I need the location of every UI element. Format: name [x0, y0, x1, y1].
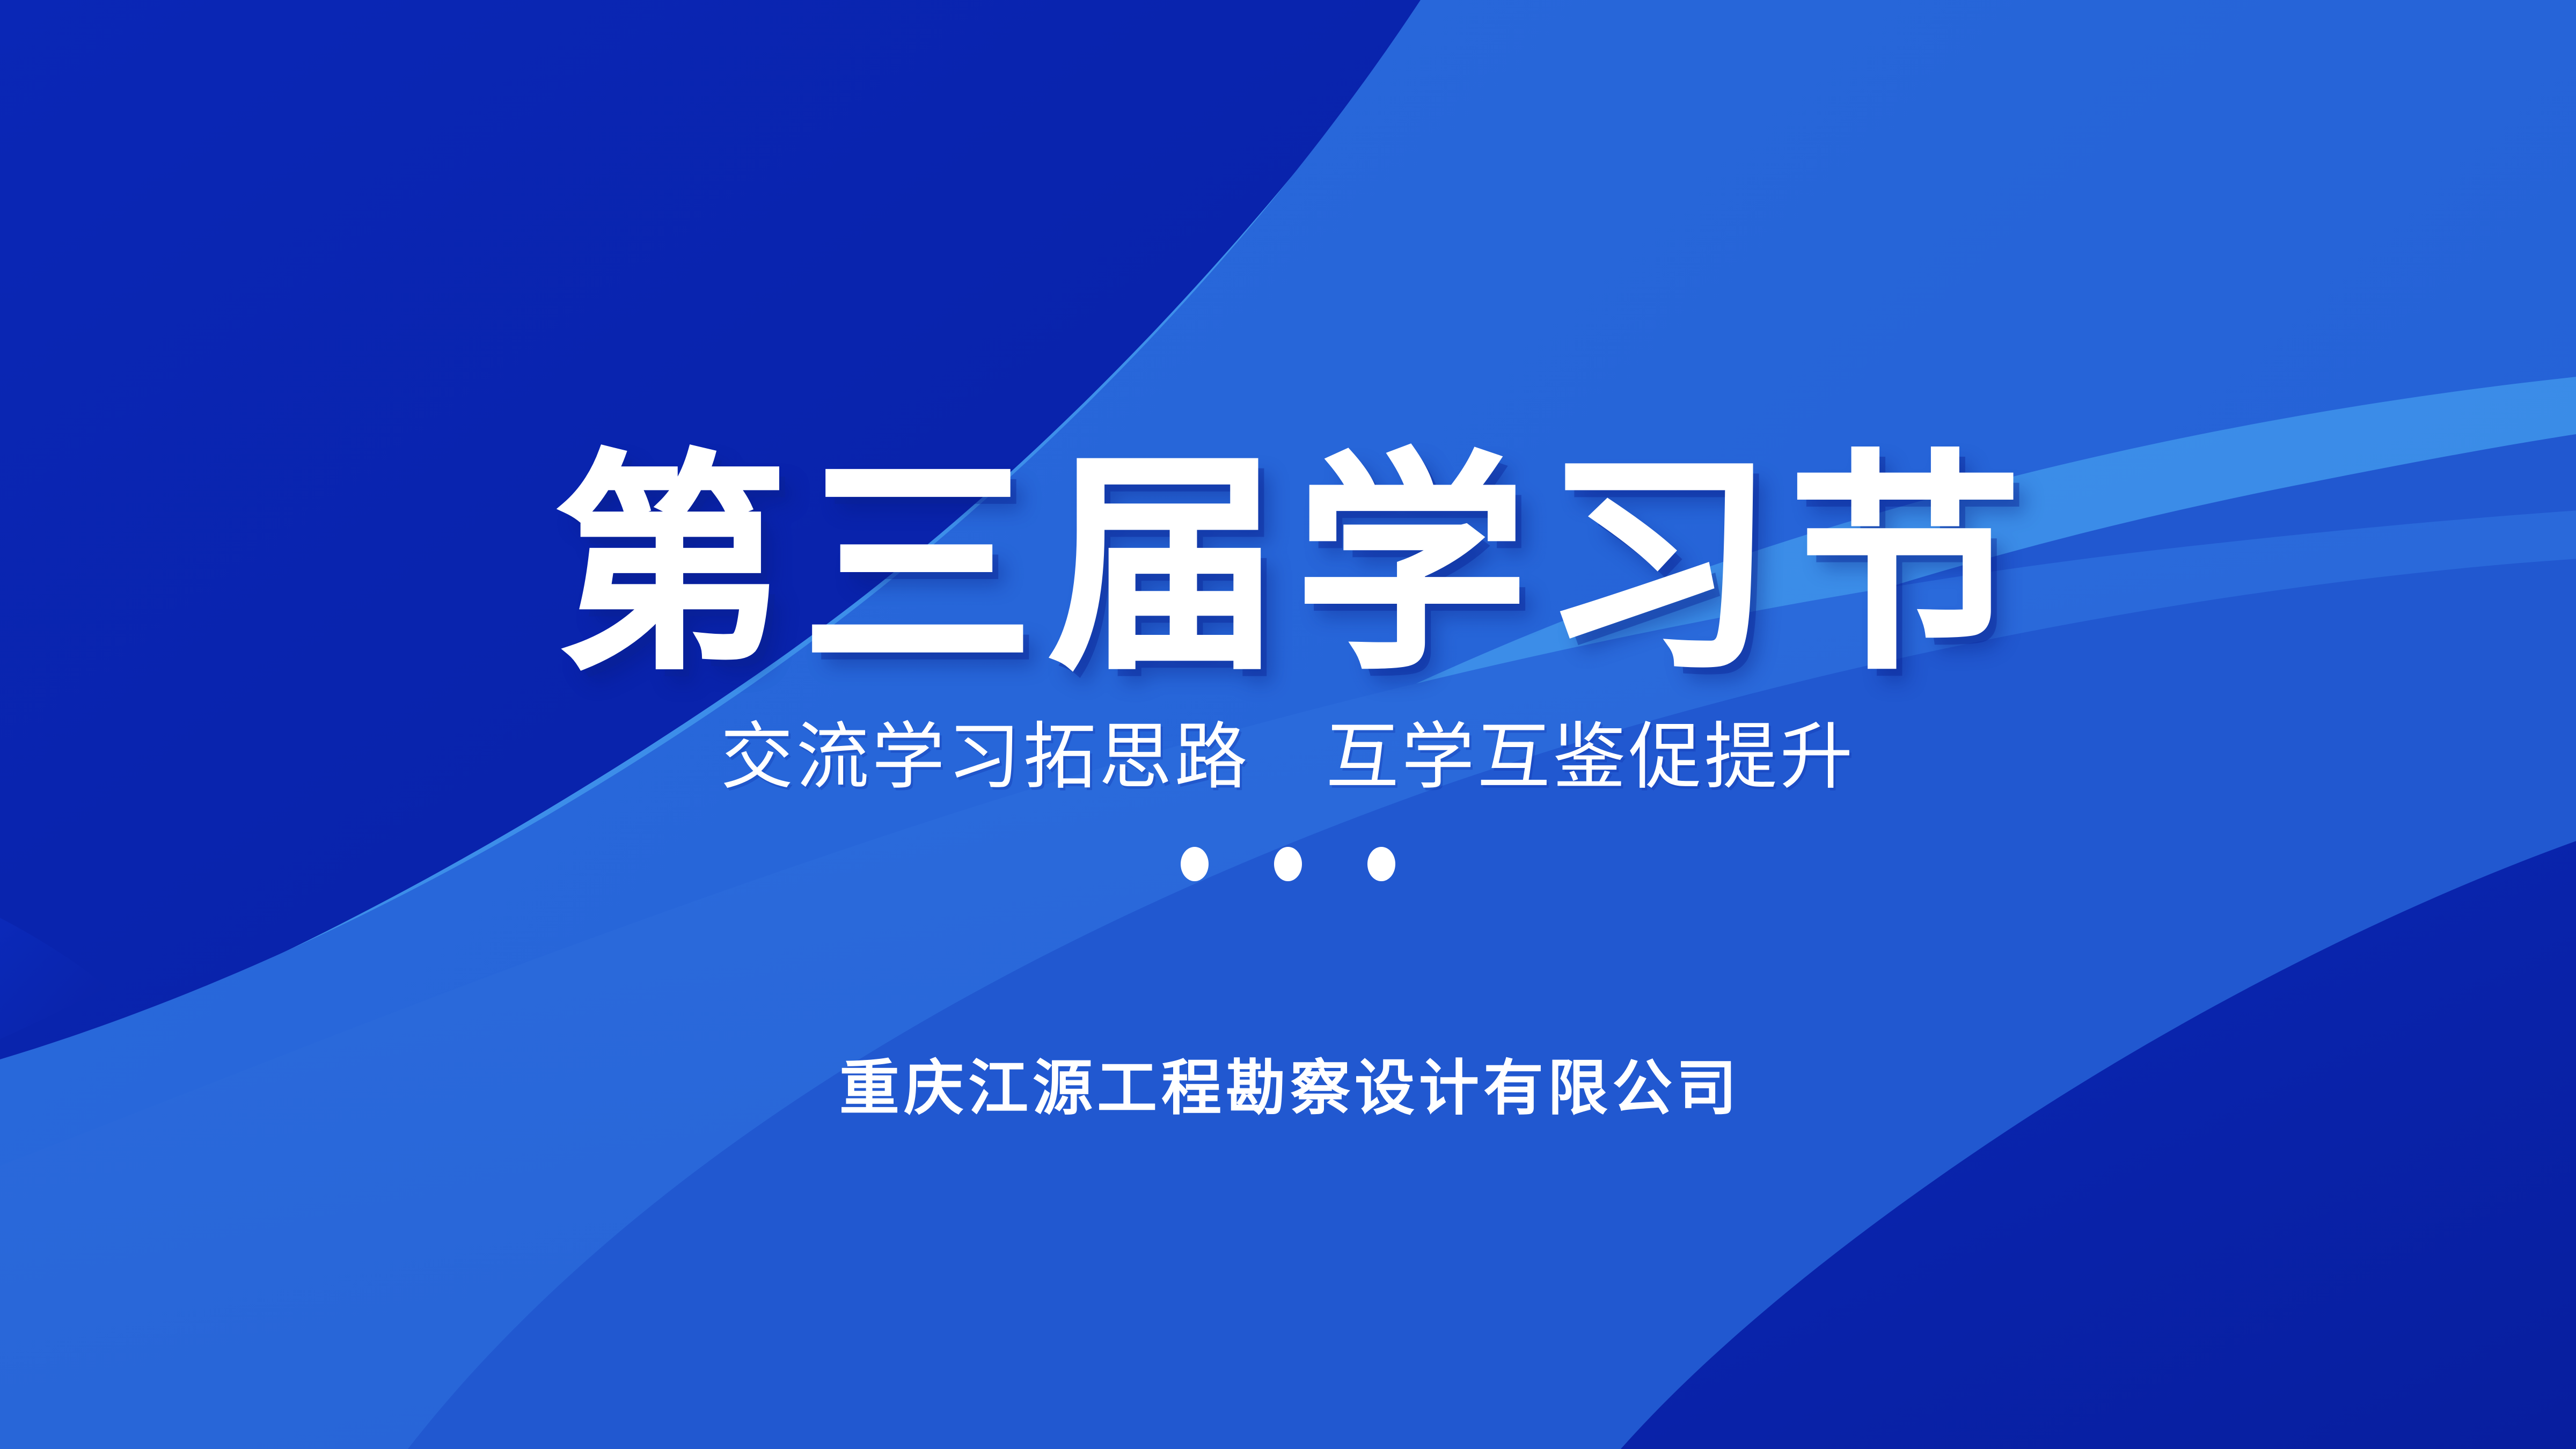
dot-icon [1274, 847, 1302, 881]
dot-icon [1181, 847, 1209, 881]
dot-icon [1367, 847, 1395, 881]
banner-content: 第三届学习节 交流学习拓思路 互学互鉴促提升 重庆江源工程勘察设计有限公司 [0, 0, 2576, 1449]
subtitle-slogan: 交流学习拓思路 互学互鉴促提升 [721, 720, 1856, 793]
company-name: 重庆江源工程勘察设计有限公司 [835, 1058, 1741, 1118]
decorative-dots [1181, 847, 1395, 881]
page-title: 第三届学习节 [539, 451, 2037, 682]
banner-poster: 第三届学习节 交流学习拓思路 互学互鉴促提升 重庆江源工程勘察设计有限公司 [0, 0, 2576, 1449]
